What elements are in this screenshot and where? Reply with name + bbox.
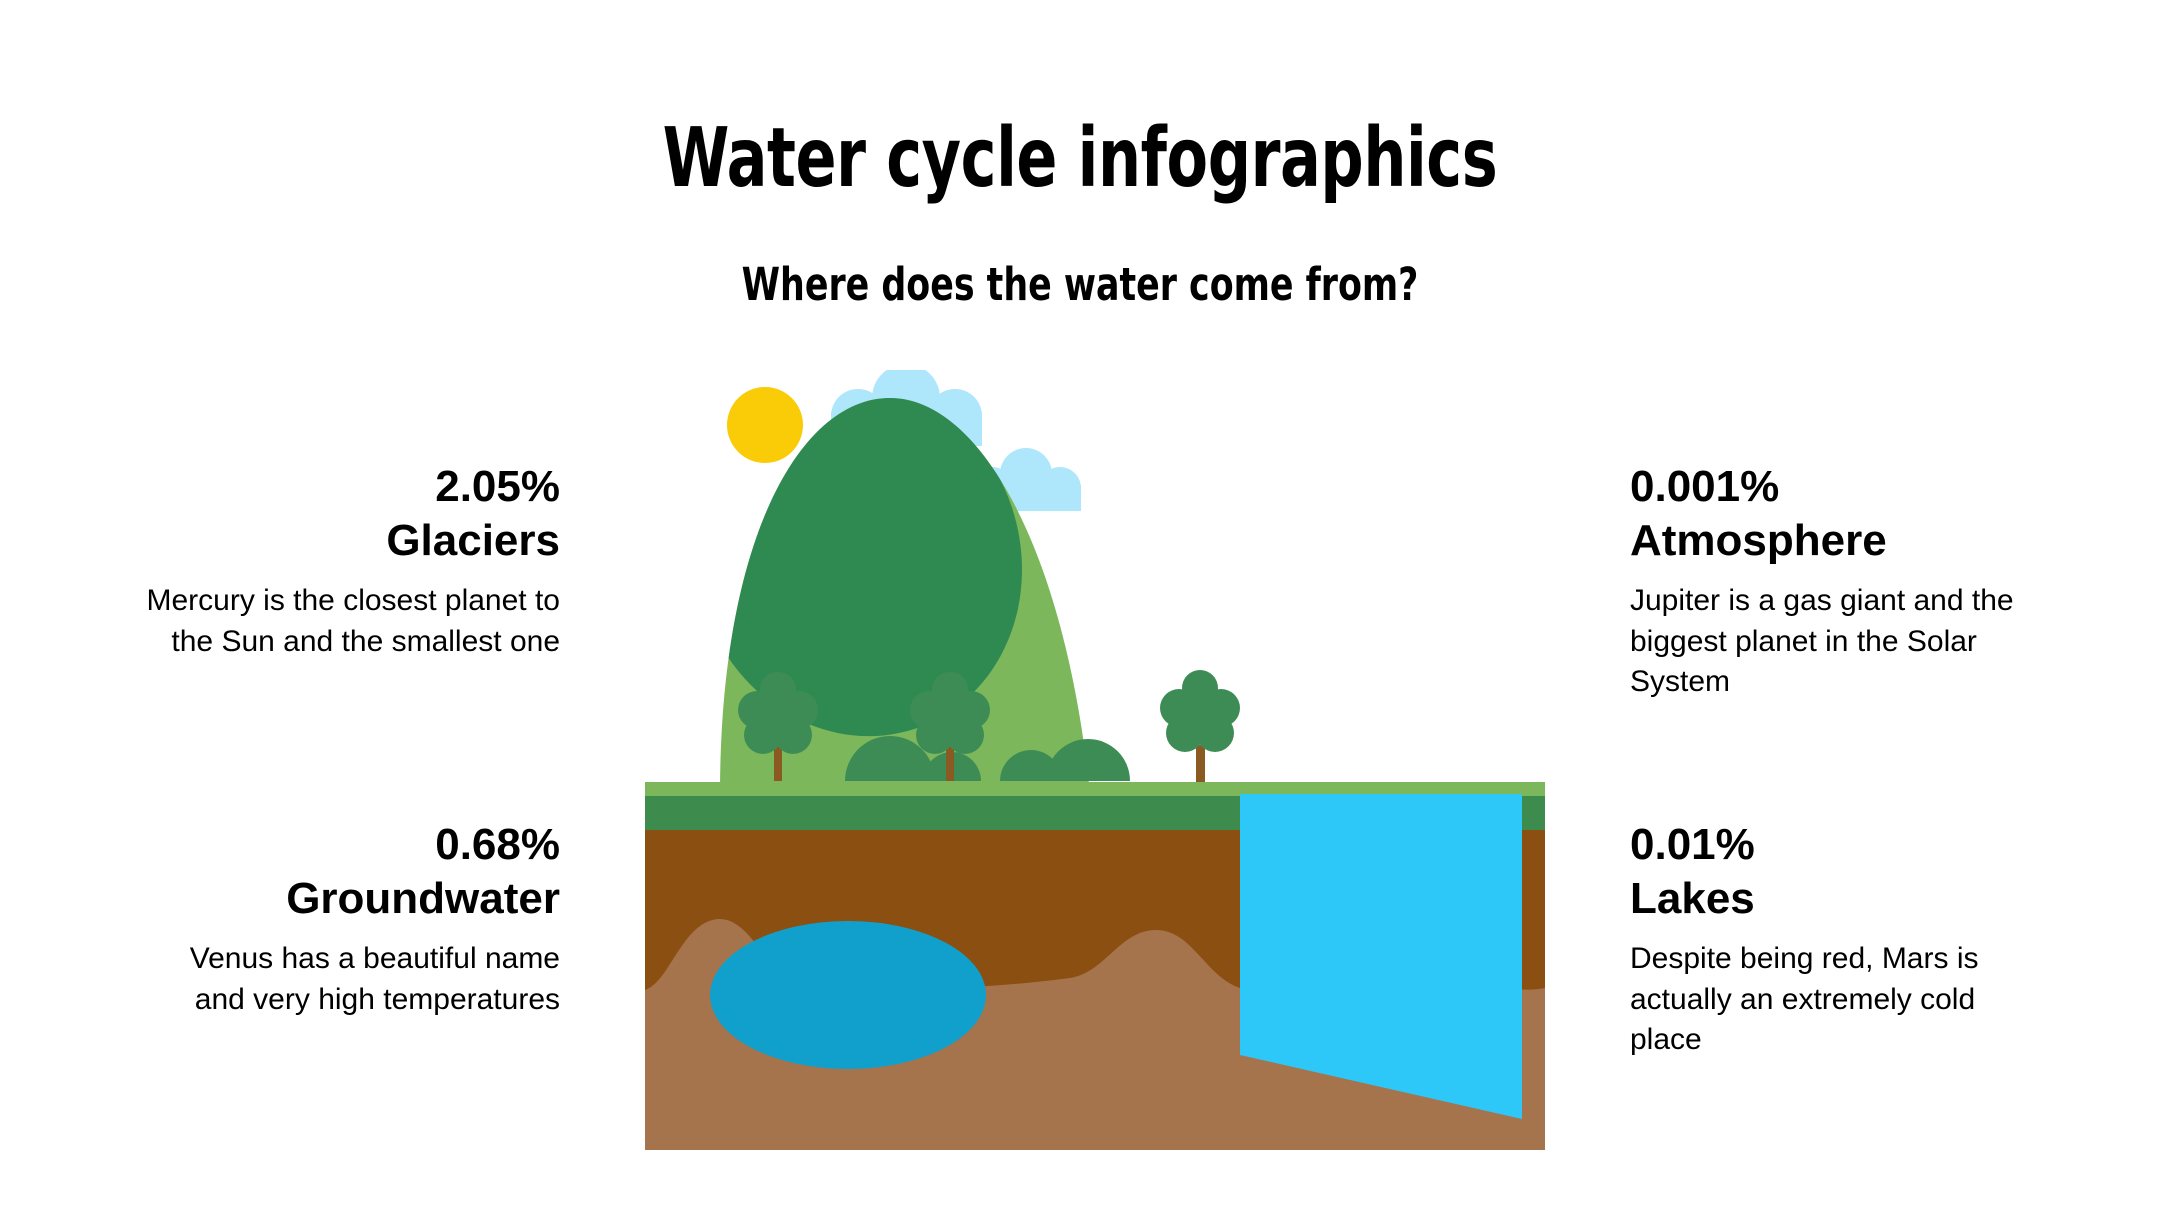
tree-icon xyxy=(1160,670,1240,785)
fact-percent: 0.001% xyxy=(1630,460,2050,514)
fact-label: Lakes xyxy=(1630,872,2050,926)
page-subtitle: Where does the water come from? xyxy=(151,262,2009,307)
fact-body: Jupiter is a gas giant and the biggest p… xyxy=(1630,581,2050,703)
grass-strip xyxy=(645,782,1545,796)
sun-icon xyxy=(727,387,803,463)
fact-block-lakes: 0.01% Lakes Despite being red, Mars is a… xyxy=(1630,818,2050,1061)
fact-percent: 2.05% xyxy=(140,460,560,514)
infographic-canvas: Water cycle infographics Where does the … xyxy=(0,0,2160,1215)
groundwater-pool xyxy=(710,921,986,1069)
fact-block-groundwater: 0.68% Groundwater Venus has a beautiful … xyxy=(140,818,560,1020)
fact-block-atmosphere: 0.001% Atmosphere Jupiter is a gas giant… xyxy=(1630,460,2050,703)
fact-percent: 0.68% xyxy=(140,818,560,872)
fact-label: Glaciers xyxy=(140,514,560,568)
fact-percent: 0.01% xyxy=(1630,818,2050,872)
fact-body: Despite being red, Mars is actually an e… xyxy=(1630,939,2050,1061)
page-title: Water cycle infographics xyxy=(194,118,1965,200)
fact-label: Groundwater xyxy=(140,872,560,926)
fact-body: Mercury is the closest planet to the Sun… xyxy=(140,581,560,662)
fact-block-glaciers: 2.05% Glaciers Mercury is the closest pl… xyxy=(140,460,560,662)
fact-body: Venus has a beautiful name and very high… xyxy=(140,939,560,1020)
fact-label: Atmosphere xyxy=(1630,514,2050,568)
water-cycle-illustration xyxy=(600,370,1580,1150)
